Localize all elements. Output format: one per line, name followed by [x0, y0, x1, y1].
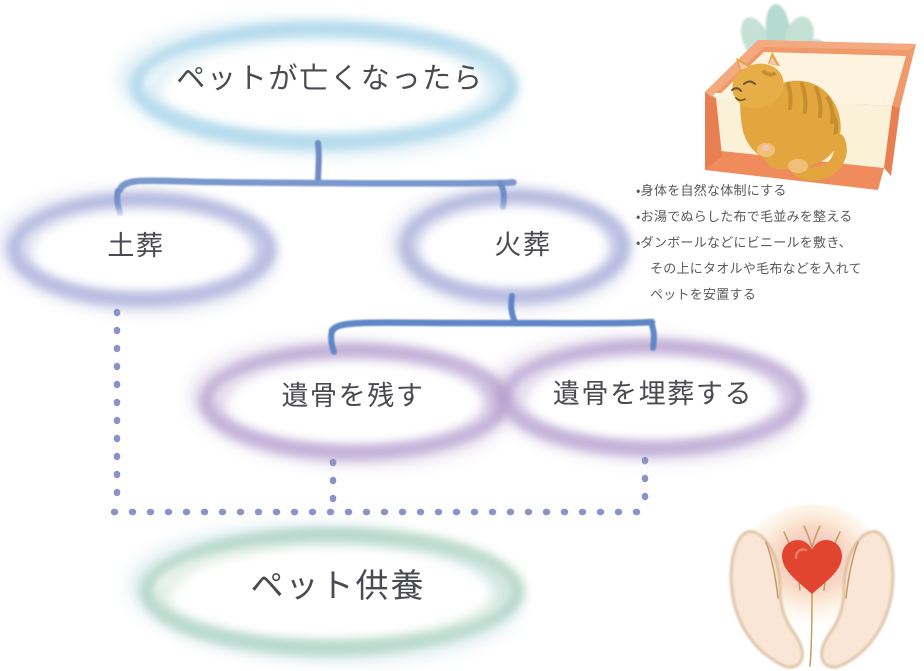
node-label: ペットが亡くなったら — [176, 55, 483, 97]
node-cremation[interactable]: 火葬 — [400, 190, 630, 302]
node-burial[interactable]: 土葬 — [8, 193, 276, 305]
node-bury-remains[interactable]: 遺骨を埋葬する — [500, 340, 806, 454]
sleeping-cat-in-box-illustration — [648, 0, 924, 196]
node-label: 遺骨を残す — [281, 374, 424, 413]
care-instructions-list: ・身体を自然な体制にする ・お湯でぬらした布で毛並みを整える ・ダンボールなどに… — [636, 178, 918, 308]
instruction-line: その上にタオルや毛布などを入れて — [636, 256, 918, 282]
instruction-line: ペットを安置する — [636, 282, 918, 308]
instruction-line: ・ダンボールなどにビニールを敷き、 — [636, 230, 918, 256]
node-pet-memorial[interactable]: ペット供養 — [140, 528, 524, 654]
hands-icon — [731, 526, 893, 667]
node-label: 火葬 — [494, 223, 551, 262]
instruction-line: ・お湯でぬらした布で毛並みを整える — [636, 204, 918, 230]
diagram-canvas: ペットが亡くなったら 土葬 火葬 遺骨を残す 遺骨を埋葬する ペット供養 ・身体… — [0, 0, 924, 671]
node-label: 土葬 — [107, 224, 164, 263]
node-pet-passed-away[interactable]: ペットが亡くなったら — [130, 22, 518, 148]
node-label: 遺骨を埋葬する — [553, 372, 753, 411]
node-label: ペット供養 — [251, 559, 426, 607]
hands-holding-heart-illustration — [700, 498, 924, 671]
instruction-line: ・身体を自然な体制にする — [636, 178, 918, 204]
node-keep-remains[interactable]: 遺骨を残す — [200, 344, 510, 458]
